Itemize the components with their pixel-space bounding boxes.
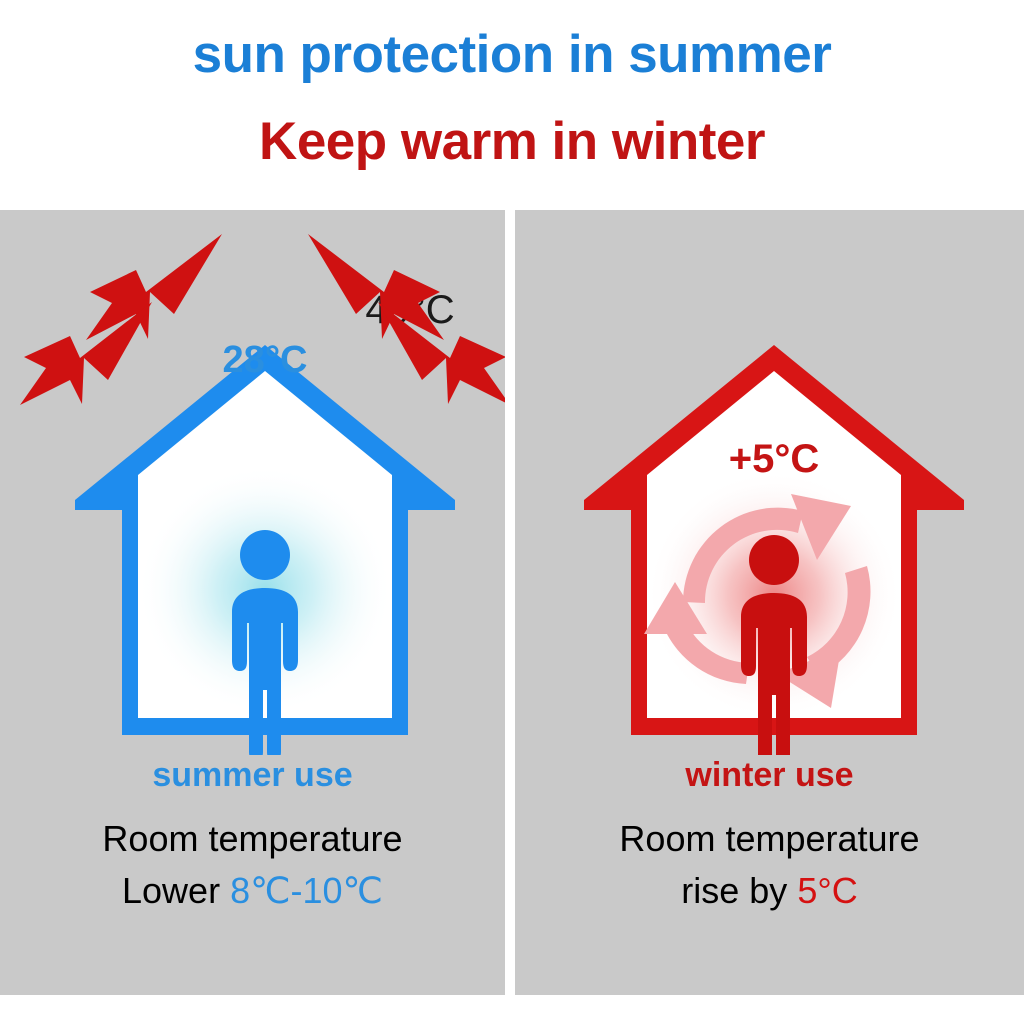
- summer-caption-line-2: Lower 8℃-10℃: [0, 865, 505, 917]
- summer-scene-svg: 28°C 40°C: [0, 210, 505, 755]
- winter-inside-temp: +5°C: [729, 437, 820, 481]
- headline-block: sun protection in summer Keep warm in wi…: [0, 0, 1024, 210]
- winter-caption-prefix: rise by: [681, 870, 797, 911]
- summer-caption-value: 8℃-10℃: [230, 870, 383, 911]
- headline-winter: Keep warm in winter: [0, 113, 1024, 171]
- summer-house-scene: 28°C 40°C: [0, 210, 505, 755]
- heat-arrow-left-lower: [20, 302, 152, 405]
- panel-summer: 28°C 40°C: [0, 210, 505, 995]
- winter-caption-value: 5°C: [797, 870, 857, 911]
- winter-caption-line-2: rise by 5°C: [515, 865, 1024, 917]
- winter-use-label: winter use: [515, 755, 1024, 795]
- heat-arrow-left-upper: [86, 234, 222, 340]
- winter-caption-line-1: Room temperature: [515, 813, 1024, 865]
- infographic-root: sun protection in summer Keep warm in wi…: [0, 0, 1024, 1024]
- summer-captions: summer use Room temperature Lower 8℃-10℃: [0, 755, 505, 917]
- summer-use-label: summer use: [0, 755, 505, 795]
- panel-winter: +5°C winter use Room temperature rise by…: [515, 210, 1024, 995]
- winter-scene-svg: +5°C: [515, 210, 1024, 755]
- summer-inside-temp: 28°C: [223, 339, 308, 381]
- winter-captions: winter use Room temperature rise by 5°C: [515, 755, 1024, 917]
- summer-caption-line-1: Room temperature: [0, 813, 505, 865]
- winter-house-scene: +5°C: [515, 210, 1024, 755]
- summer-caption-prefix: Lower: [122, 870, 230, 911]
- headline-summer: sun protection in summer: [0, 26, 1024, 84]
